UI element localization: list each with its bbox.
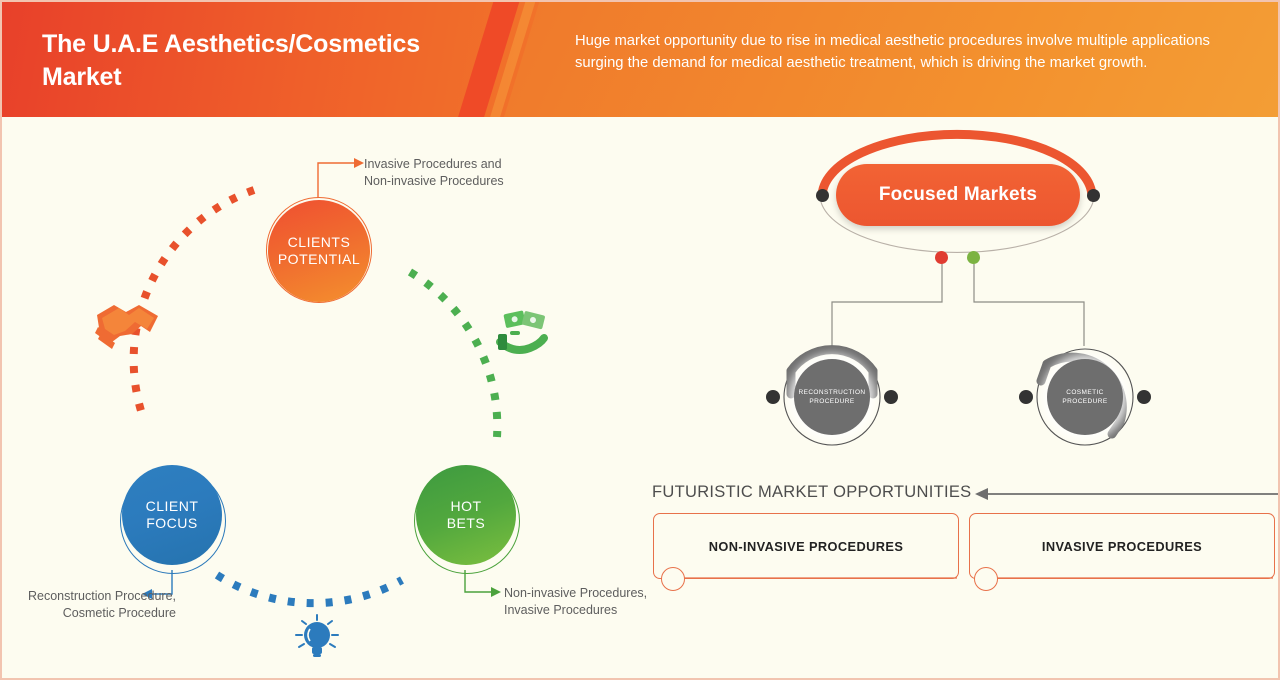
green-dotted-arc [410, 272, 497, 437]
infographic-page: The U.A.E Aesthetics/Cosmetics Market Hu… [0, 0, 1280, 680]
reconstruction-dot-left [766, 390, 780, 404]
clients-potential-node[interactable]: CLIENTS POTENTIAL [268, 200, 370, 302]
focused-markets-group: Focused Markets [808, 152, 1108, 244]
hot-bets-arrowhead [491, 587, 501, 597]
reconstruction-dot-right [884, 390, 898, 404]
focused-markets-connectors [832, 264, 1084, 346]
focused-markets-label: Focused Markets [879, 184, 1037, 206]
reconstruction-procedure-label: RECONSTRUCTION PROCEDURE [794, 359, 870, 435]
focused-markets-dot-left [816, 189, 829, 202]
client-focus-label: CLIENT FOCUS [146, 498, 199, 532]
money-in-hand-icon [498, 310, 545, 350]
cosmetic-procedure-label: COSMETIC PROCEDURE [1047, 359, 1123, 435]
red-connector-dot [935, 251, 948, 264]
reconstruction-procedure-node[interactable]: RECONSTRUCTION PROCEDURE [780, 345, 884, 449]
page-title: The U.A.E Aesthetics/Cosmetics Market [42, 28, 472, 94]
non-invasive-procedures-label: NON-INVASIVE PROCEDURES [709, 539, 904, 554]
invasive-procedures-box[interactable]: INVASIVE PROCEDURES [969, 513, 1275, 579]
futuristic-title: FUTURISTIC MARKET OPPORTUNITIES [652, 483, 971, 502]
clients-potential-arrowhead [354, 158, 364, 168]
non-invasive-box-notch [661, 567, 685, 591]
invasive-procedures-label: INVASIVE PROCEDURES [1042, 539, 1202, 554]
hot-bets-callout: Non-invasive Procedures, Invasive Proced… [504, 585, 664, 619]
page-subtitle: Huge market opportunity due to rise in m… [575, 30, 1255, 75]
client-focus-node[interactable]: CLIENT FOCUS [122, 465, 222, 565]
focused-markets-dot-right [1087, 189, 1100, 202]
green-connector-dot [967, 251, 980, 264]
non-invasive-procedures-box[interactable]: NON-INVASIVE PROCEDURES [653, 513, 959, 579]
cosmetic-procedure-node[interactable]: COSMETIC PROCEDURE [1033, 345, 1137, 449]
cosmetic-dot-left [1019, 390, 1033, 404]
handshake-icon [95, 305, 158, 349]
orange-dotted-arc [134, 190, 254, 414]
blue-dotted-arc [217, 575, 402, 603]
cosmetic-dot-right [1137, 390, 1151, 404]
hot-bets-node[interactable]: HOT BETS [416, 465, 516, 565]
futuristic-arrowhead [975, 488, 988, 500]
focused-markets-button[interactable]: Focused Markets [836, 164, 1080, 226]
clients-potential-leader [318, 163, 354, 198]
clients-potential-callout: Invasive Procedures and Non-invasive Pro… [364, 156, 524, 190]
clients-potential-label: CLIENTS POTENTIAL [278, 234, 360, 268]
client-focus-callout: Reconstruction Procedure, Cosmetic Proce… [16, 588, 176, 622]
invasive-box-notch [974, 567, 998, 591]
hot-bets-label: HOT BETS [447, 498, 486, 532]
lightbulb-icon [296, 615, 338, 657]
